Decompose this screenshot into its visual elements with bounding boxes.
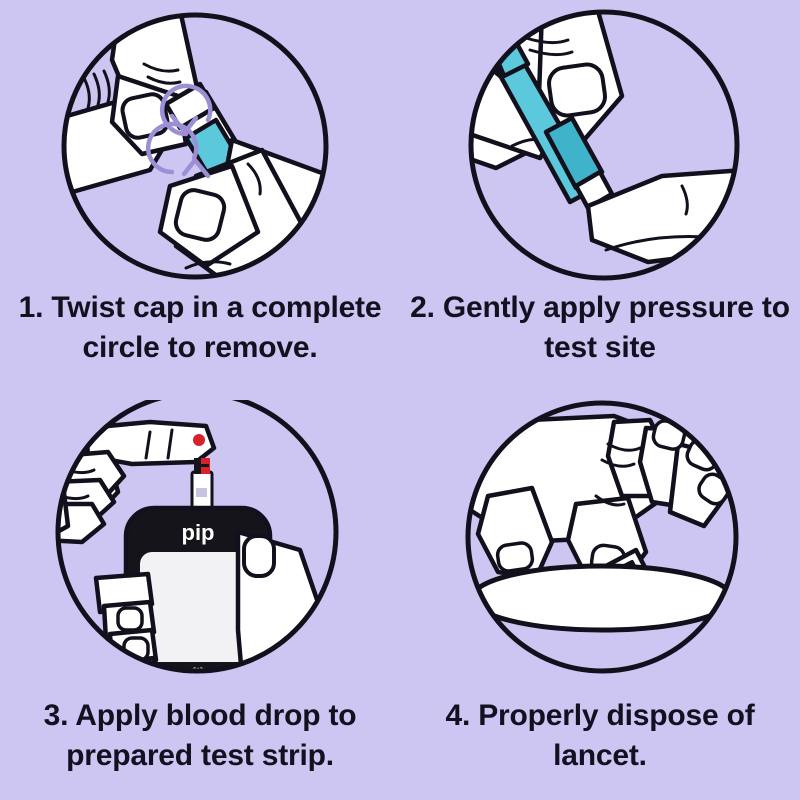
step-4-caption: 4. Properly dispose of lancet.: [408, 696, 792, 776]
step-4-caption-line2: lancet.: [408, 736, 792, 776]
step-2-illustration: [400, 0, 800, 290]
instruction-infographic: 1. Twist cap in a complete circle to rem…: [0, 0, 800, 800]
step-3-caption-line2: prepared test strip.: [8, 736, 392, 776]
step-panel-3: pip: [0, 400, 400, 800]
step-1-caption-line1: 1. Twist cap in a complete: [8, 288, 392, 328]
step-1-illustration: [0, 0, 400, 290]
step-1-caption: 1. Twist cap in a complete circle to rem…: [8, 288, 392, 368]
step-1-caption-line2: circle to remove.: [8, 328, 392, 368]
step-panel-4: 4. Properly dispose of lancet.: [400, 400, 800, 800]
step-3-caption: 3. Apply blood drop to prepared test str…: [8, 696, 392, 776]
meter-brand-label: pip: [182, 520, 215, 545]
step-panel-1: 1. Twist cap in a complete circle to rem…: [0, 0, 400, 400]
step-4-illustration: [400, 400, 800, 690]
step-4-caption-line1: 4. Properly dispose of: [408, 696, 792, 736]
step-3-caption-line1: 3. Apply blood drop to: [8, 696, 392, 736]
step-3-illustration: pip: [0, 400, 400, 690]
step-2-caption-line2: test site: [408, 328, 792, 368]
blood-drop: [193, 434, 205, 446]
step-panel-2: 2. Gently apply pressure to test site: [400, 0, 800, 400]
step-2-caption-line1: 2. Gently apply pressure to: [408, 288, 792, 328]
step-2-caption: 2. Gently apply pressure to test site: [408, 288, 792, 368]
